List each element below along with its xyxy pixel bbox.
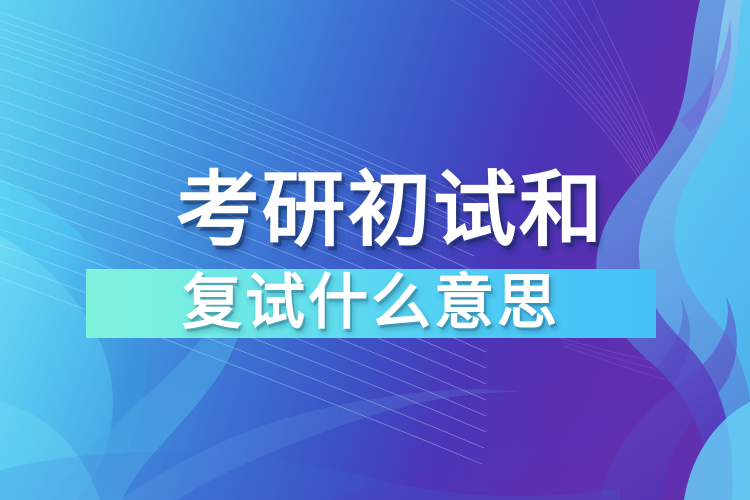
headline-line-2: 复试什么意思 bbox=[182, 273, 560, 333]
headline-line-1: 考研初试和 bbox=[176, 170, 604, 252]
banner: 考研初试和 复试什么意思 bbox=[0, 0, 750, 500]
highlight-bar: 复试什么意思 bbox=[86, 269, 656, 338]
headline-block: 考研初试和 复试什么意思 bbox=[0, 0, 750, 500]
